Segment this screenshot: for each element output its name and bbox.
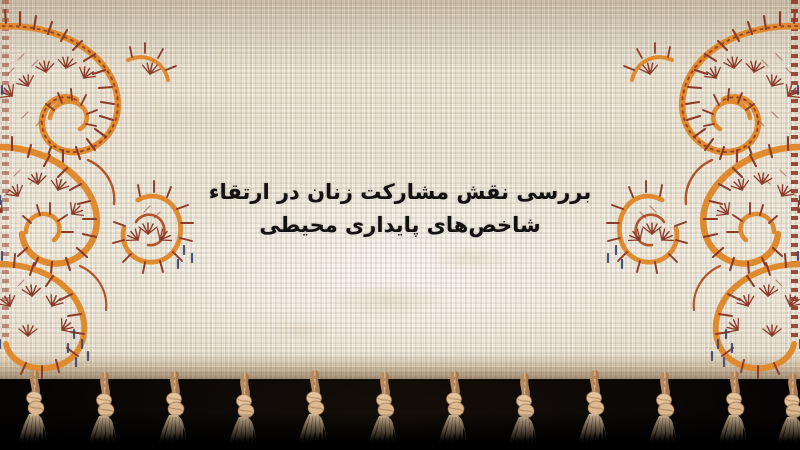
title-line-1: بررسی نقش مشارکت زنان در ارتقاء	[0, 176, 800, 209]
slide-title: بررسی نقش مشارکت زنان در ارتقاء شاخص‌های…	[0, 176, 800, 242]
embroidered-cloth: بررسی نقش مشارکت زنان در ارتقاء شاخص‌های…	[0, 0, 800, 379]
slide-canvas: بررسی نقش مشارکت زنان در ارتقاء شاخص‌های…	[0, 0, 800, 450]
title-line-2: شاخص‌های پایداری محیطی	[0, 209, 800, 242]
bottom-dark-floor	[0, 414, 800, 450]
